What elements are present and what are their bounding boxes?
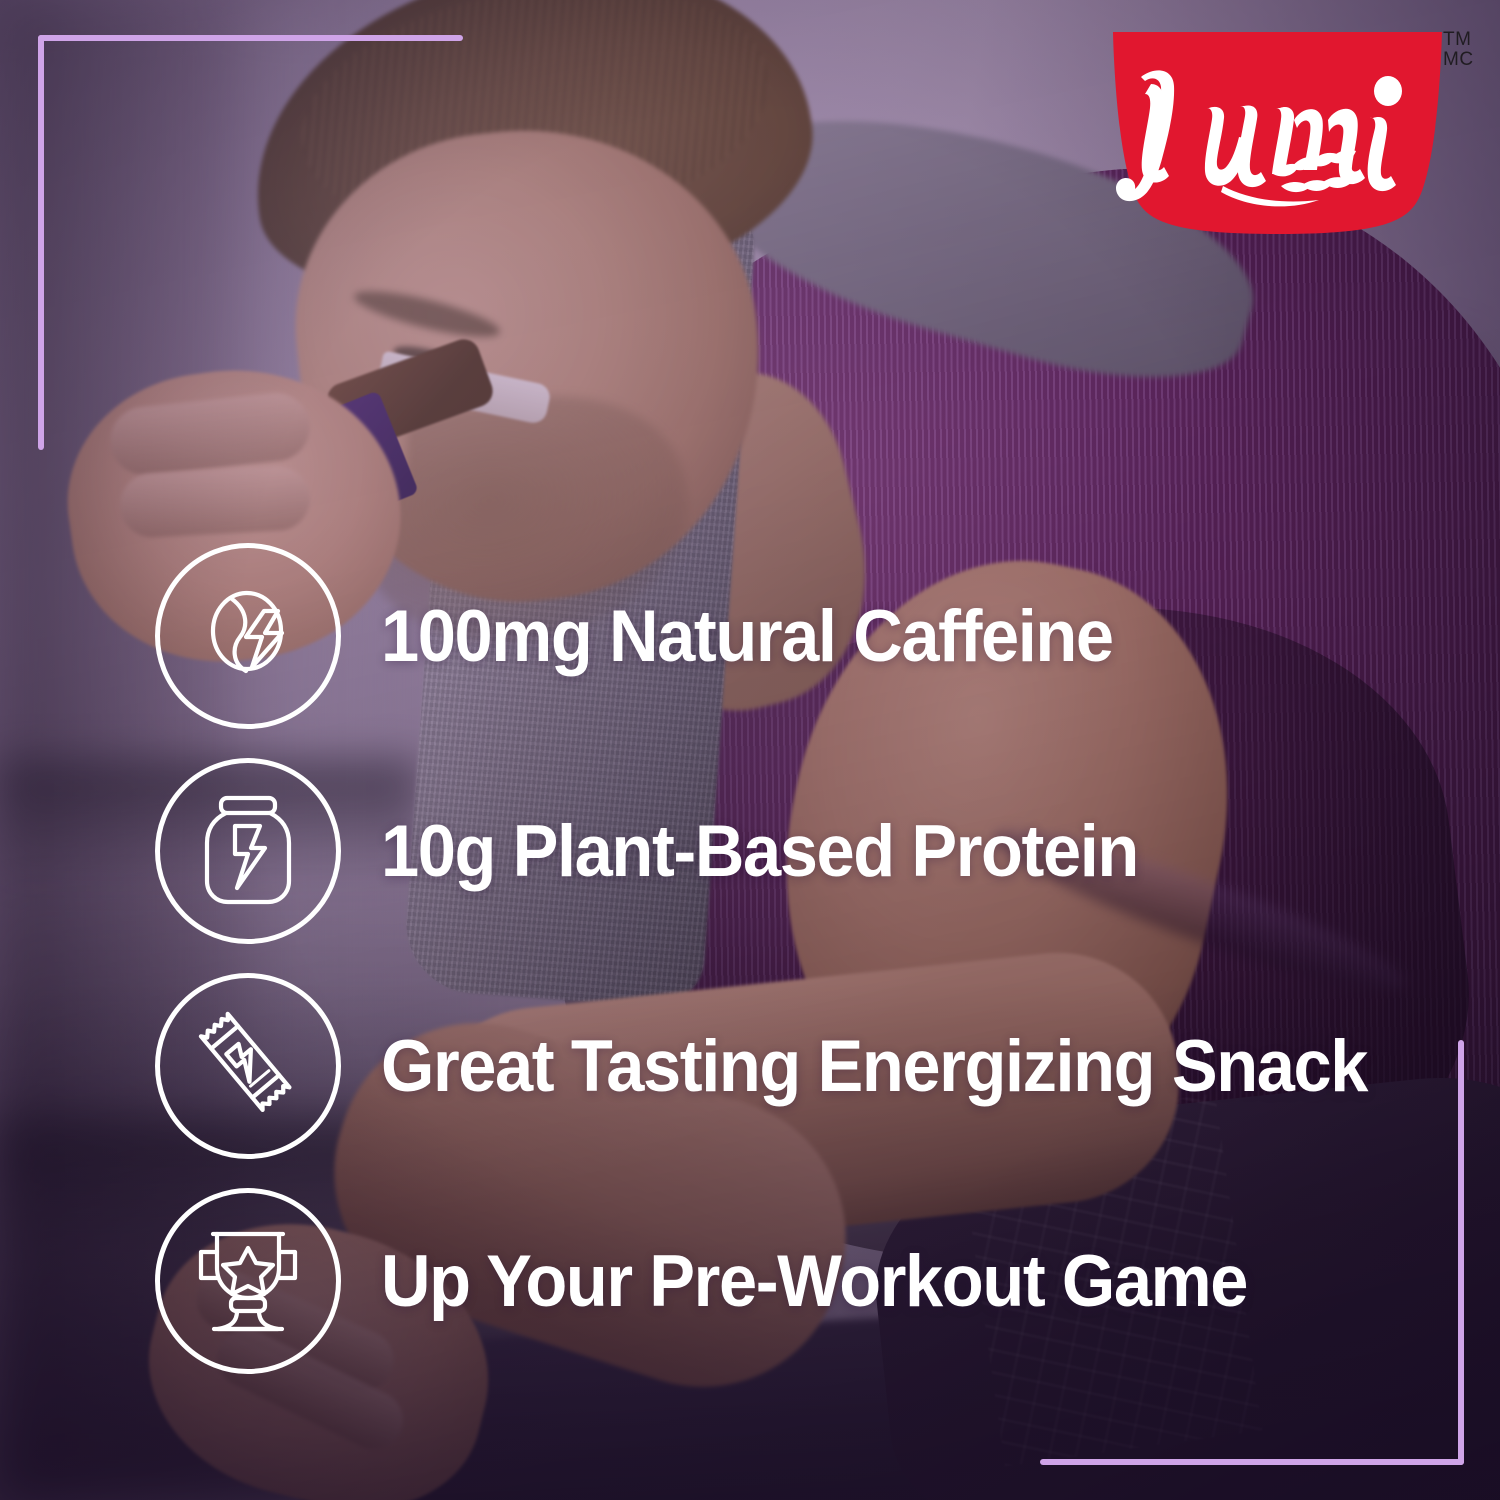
promo-canvas: TM MC 100mg Natural Caffeine <box>0 0 1500 1500</box>
feature-label-preworkout: Up Your Pre-Workout Game <box>381 1245 1247 1318</box>
feature-item-preworkout: Up Your Pre-Workout Game <box>155 1188 1302 1374</box>
feature-list: 100mg Natural Caffeine 10g Plant-Based P… <box>0 0 1500 1500</box>
feature-label-protein: 10g Plant-Based Protein <box>381 815 1138 888</box>
feature-item-snack: Great Tasting Energizing Snack <box>155 973 1430 1159</box>
feature-item-protein: 10g Plant-Based Protein <box>155 758 1186 944</box>
energy-bar-lightning-icon <box>155 973 341 1159</box>
trophy-star-icon <box>155 1188 341 1374</box>
feature-item-caffeine: 100mg Natural Caffeine <box>155 543 1159 729</box>
feature-label-caffeine: 100mg Natural Caffeine <box>381 600 1113 673</box>
feature-label-snack: Great Tasting Energizing Snack <box>381 1030 1367 1103</box>
coffee-bean-lightning-icon <box>155 543 341 729</box>
protein-jar-lightning-icon <box>155 758 341 944</box>
